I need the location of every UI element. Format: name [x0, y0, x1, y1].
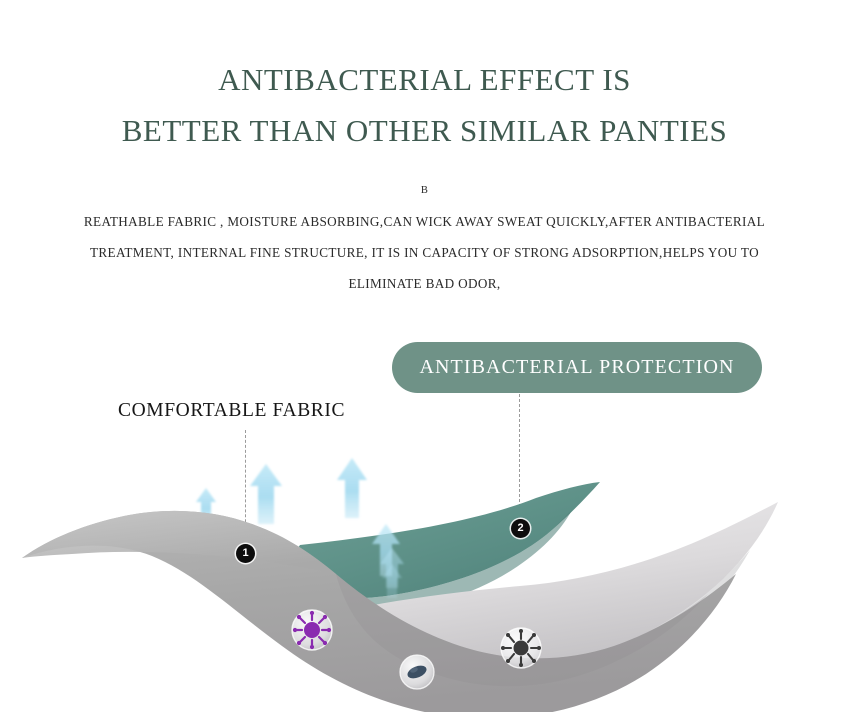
- germ-virus-purple: [292, 610, 332, 650]
- description-line-1: BREATHABLE FABRIC , MOISTURE ABSORBING,C…: [0, 175, 849, 237]
- description-paragraph: BREATHABLE FABRIC , MOISTURE ABSORBING,C…: [0, 175, 849, 299]
- headline-line-1: ANTIBACTERIAL EFFECT IS: [0, 54, 849, 105]
- callout-marker-1: 1: [236, 544, 255, 563]
- description-lead-cap: B: [0, 175, 849, 206]
- airflow-arrow-3: [337, 458, 367, 518]
- infographic-page: ANTIBACTERIAL EFFECT IS BETTER THAN OTHE…: [0, 0, 849, 712]
- antibacterial-protection-badge: ANTIBACTERIAL PROTECTION: [392, 342, 762, 393]
- description-line-3: ELIMINATE BAD ODOR,: [0, 268, 849, 299]
- germ-virus-dark: [501, 628, 541, 668]
- comfortable-fabric-label: COMFORTABLE FABRIC: [118, 400, 345, 422]
- callout-marker-2-number: 2: [517, 523, 523, 534]
- description-line-1-rest: REATHABLE FABRIC , MOISTURE ABSORBING,CA…: [0, 206, 849, 237]
- antibacterial-protection-badge-label: ANTIBACTERIAL PROTECTION: [419, 356, 734, 379]
- germ-bacterium-blue: [400, 655, 434, 689]
- callout-marker-1-number: 1: [242, 548, 248, 559]
- comfortable-fabric-label-text: COMFORTABLE FABRIC: [118, 400, 345, 421]
- airflow-arrow-2: [250, 464, 282, 524]
- headline-line-2: BETTER THAN OTHER SIMILAR PANTIES: [0, 105, 849, 156]
- description-line-2: TREATMENT, INTERNAL FINE STRUCTURE, IT I…: [0, 237, 849, 268]
- fabric-layers-illustration: [0, 440, 849, 712]
- callout-marker-2: 2: [511, 519, 530, 538]
- page-title: ANTIBACTERIAL EFFECT IS BETTER THAN OTHE…: [0, 54, 849, 156]
